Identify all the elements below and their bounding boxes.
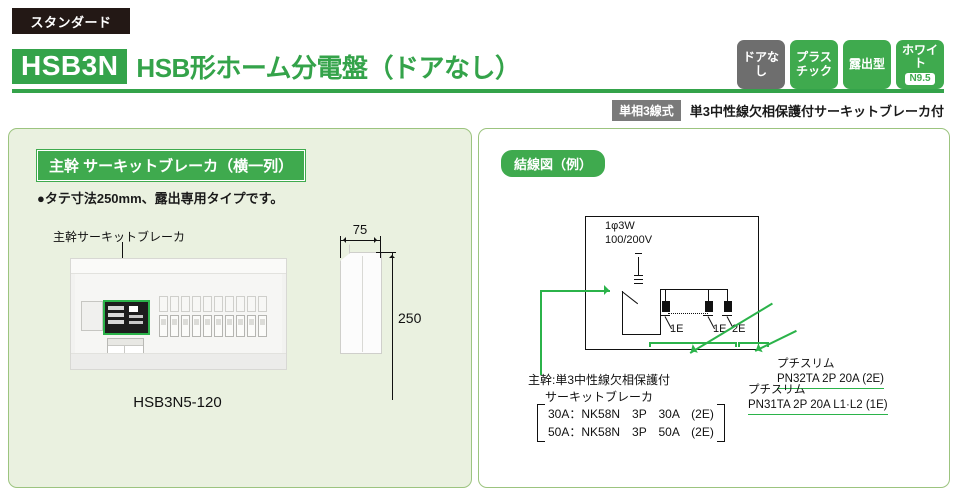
annotation-main-line1: 主幹:単3中性線欠相保護付 (528, 372, 670, 389)
main-switch-blade (622, 291, 638, 304)
branch-breaker (247, 296, 256, 337)
bracket-right (717, 404, 725, 442)
rating-row-50a: 50A：NK58N 3P 50A (2E) (548, 425, 714, 439)
panel-left-stub (81, 301, 103, 331)
breaker-detail (108, 320, 124, 324)
spec-row: 単相3線式 単3中性線欠相保護付サーキットブレーカ付 (612, 100, 944, 121)
branch-breaker (214, 296, 223, 337)
annotation-pn31ta: プチスリム PN31TA 2P 20A L1·L2 (1E) (748, 383, 888, 415)
dimension-extension-right (380, 236, 381, 258)
wiring-diagram-heading: 結線図（例） (501, 150, 605, 177)
branch-breaker (225, 296, 234, 337)
side-view-body (340, 252, 382, 354)
branch-breaker (236, 296, 245, 337)
fuse-mark (634, 279, 643, 280)
badge-plastic: プラス チック (790, 40, 838, 89)
branch-breaker (170, 296, 179, 337)
branch-drop (665, 289, 666, 301)
annotation-main-breaker: 主幹:単3中性線欠相保護付 サーキットブレーカ (528, 372, 670, 407)
spec-text: 単3中性線欠相保護付サーキットブレーカ付 (690, 101, 944, 120)
branch-breaker-symbol (662, 301, 670, 312)
breaker-detail (129, 315, 143, 318)
neutral-tie-line (668, 313, 708, 314)
rating-rows: 30A：NK58N 3P 30A (2E) 50A：NK58N 3P 50A (… (545, 404, 717, 442)
breaker-detail (108, 306, 124, 310)
branch-breaker (192, 296, 201, 337)
arrow-head-main (604, 285, 614, 295)
main-bus-return (622, 334, 660, 335)
callout-label-main-breaker: 主幹サーキットブレーカ (53, 228, 185, 245)
distribution-bus (660, 289, 728, 290)
brace-2e (738, 342, 768, 344)
brace-1e-left (649, 342, 651, 347)
fuse-mark (634, 275, 643, 276)
branch-node-label: 1E (670, 323, 683, 335)
bracket-left (537, 404, 545, 442)
dimension-arrow-width (340, 240, 380, 241)
branch-breaker (181, 296, 190, 337)
arrow-main-breaker (540, 290, 610, 292)
side-view-drawing (340, 252, 380, 352)
branch-breaker-symbol (724, 301, 732, 312)
bus-drop (660, 289, 661, 335)
panel-top-band (71, 259, 286, 274)
rating-plate-header (108, 339, 143, 346)
dimension-arrow-height (392, 252, 393, 400)
breaker-detail (129, 306, 138, 312)
title-underline (12, 89, 944, 93)
brace-1e-right (735, 342, 737, 347)
branch-drop (727, 289, 728, 301)
branch-breaker (203, 296, 212, 337)
title-row: HSB3N HSB形ホーム分電盤（ドアなし） (12, 48, 521, 85)
branch-breaker-row (159, 296, 267, 337)
supply-line2: 100/200V (605, 234, 652, 246)
badge-label: 露出型 (849, 58, 885, 71)
photo-caption: HSB3N5-120 (70, 394, 285, 411)
standard-tag: スタンダード (12, 8, 130, 34)
badge-label: ホワイト (898, 44, 942, 71)
breaker-detail (108, 313, 124, 317)
panel-bottom-band (71, 353, 286, 369)
supply-line1: 1φ3W (605, 220, 635, 232)
dimension-label-height: 250 (398, 310, 421, 326)
fuse-mark (634, 283, 643, 284)
branch-breaker-symbol (705, 301, 713, 312)
annotation-pn32ta-line1: プチスリム (777, 357, 884, 372)
rating-row-30a: 30A：NK58N 3P 30A (2E) (548, 407, 714, 421)
supply-arrow (635, 253, 642, 254)
arrow-main-breaker-stem (540, 290, 542, 375)
header-badges: ドアなし プラス チック 露出型 ホワイト N9.5 (737, 40, 944, 89)
main-breaker-rating-table: 30A：NK58N 3P 30A (2E) 50A：NK58N 3P 50A (… (537, 404, 725, 442)
breaker-detail (129, 321, 143, 324)
annotation-pn31ta-line2: PN31TA 2P 20A L1·L2 (1E) (748, 398, 888, 415)
main-switch-stem (622, 291, 623, 335)
left-panel-heading: 主幹 サーキットブレーカ（横一列） (37, 150, 305, 181)
product-photo (70, 258, 287, 370)
badge-label-line1: プラス (796, 51, 832, 64)
branch-breaker (258, 296, 267, 337)
annotation-pn31ta-line1: プチスリム (748, 383, 888, 398)
badge-label-line2: チック (796, 65, 832, 78)
brace-2e-left (738, 342, 740, 347)
page-title: HSB形ホーム分電盤（ドアなし） (136, 48, 520, 85)
badge-door-none: ドアなし (737, 40, 785, 89)
badge-label: ドアなし (739, 51, 783, 78)
panel-face (75, 274, 282, 353)
badge-sub-value: N9.5 (905, 73, 934, 86)
badge-surface-mount: 露出型 (843, 40, 891, 89)
badge-white: ホワイト N9.5 (896, 40, 944, 89)
spec-badge: 単相3線式 (612, 100, 681, 121)
branch-drop (708, 289, 709, 301)
supply-spec-label: 1φ3W 100/200V (605, 220, 652, 248)
side-view-fold-line (362, 256, 363, 352)
left-panel-bullet-text: ●タテ寸法250mm、露出専用タイプです。 (37, 188, 283, 207)
branch-breaker (159, 296, 168, 337)
supply-line (638, 257, 639, 275)
model-number-chip: HSB3N (12, 49, 127, 84)
dimension-label-width: 75 (340, 222, 380, 237)
main-circuit-breaker-highlight (103, 300, 150, 335)
